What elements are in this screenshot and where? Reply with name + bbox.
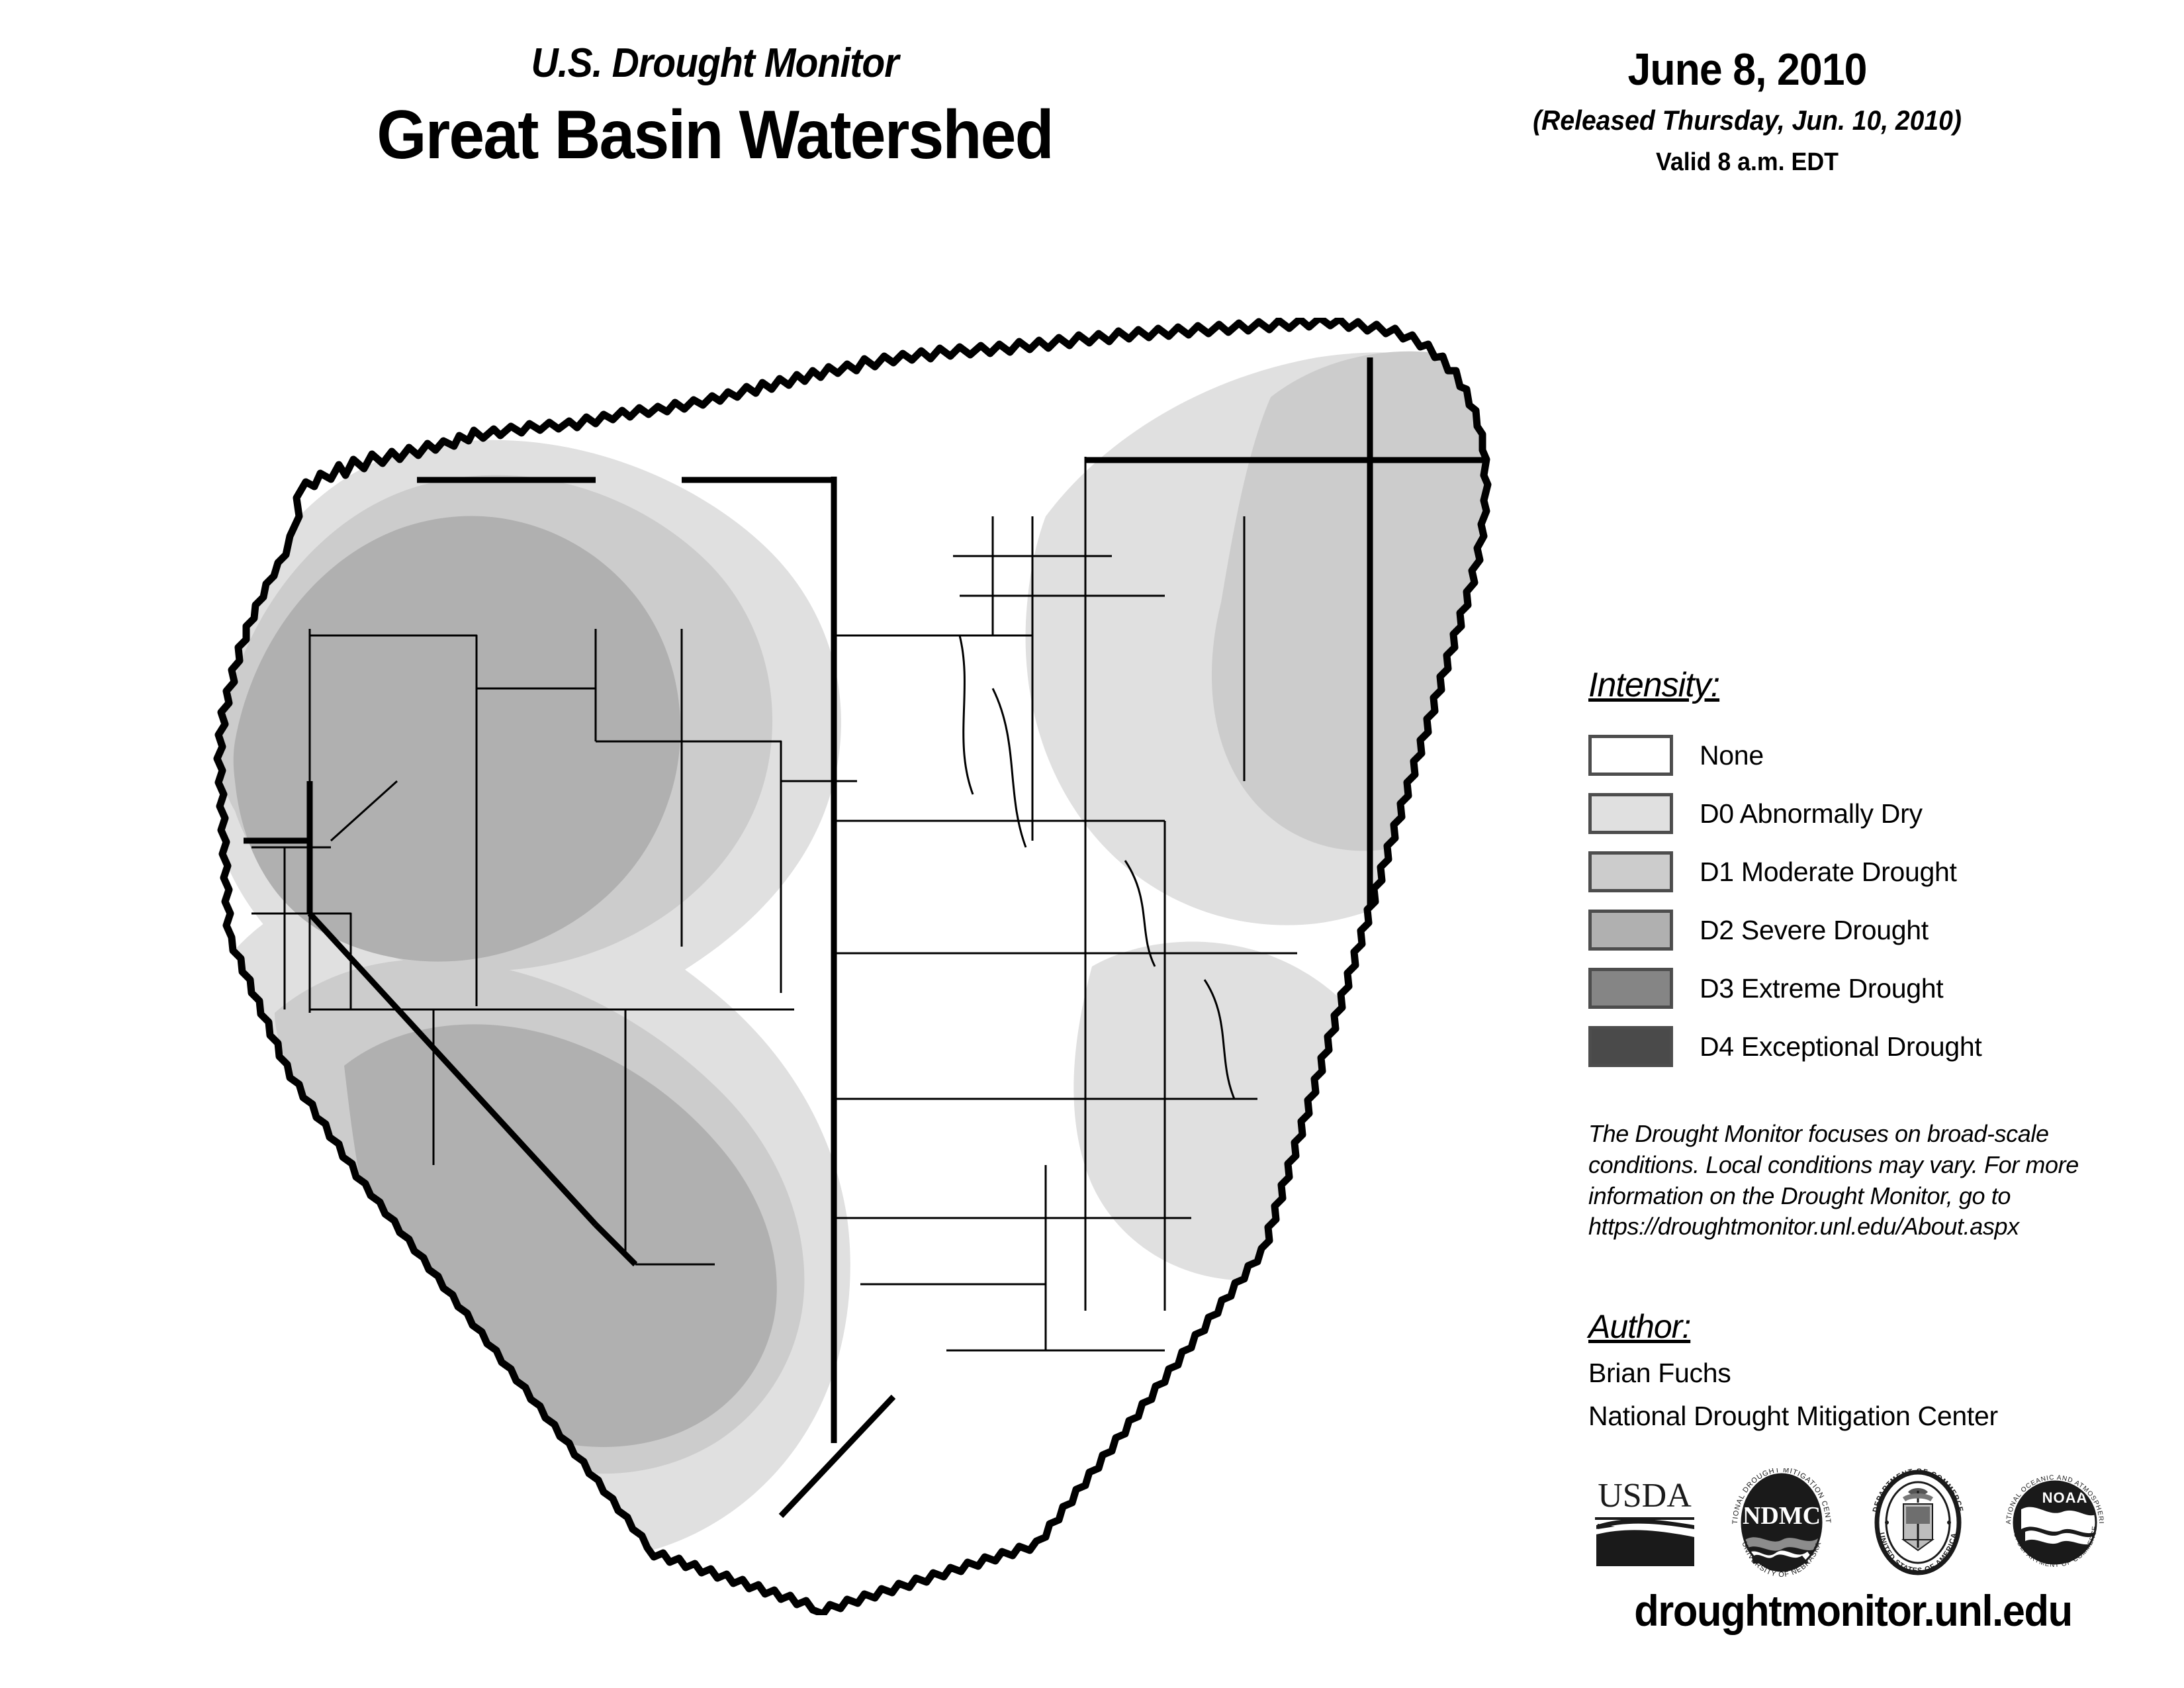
legend-label-d1: D1 Moderate Drought bbox=[1700, 857, 1957, 888]
legend-label-d4: D4 Exceptional Drought bbox=[1700, 1031, 1981, 1062]
author-block: Author: Brian Fuchs National Drought Mit… bbox=[1588, 1307, 2118, 1432]
legend-swatch-d2 bbox=[1588, 910, 1673, 951]
noaa-logo[interactable]: NOAA NATIONAL OCEANIC AND ATMOSPHERIC U.… bbox=[1999, 1468, 2111, 1577]
release-date: (Released Thursday, Jun. 10, 2010) bbox=[1433, 105, 2062, 136]
valid-time: Valid 8 a.m. EDT bbox=[1430, 148, 2065, 177]
legend-swatch-d4 bbox=[1588, 1026, 1673, 1067]
legend-swatch-d1 bbox=[1588, 851, 1673, 892]
legend-label-d2: D2 Severe Drought bbox=[1700, 915, 1929, 946]
legend-items: None D0 Abnormally Dry D1 Moderate Droug… bbox=[1588, 726, 2091, 1076]
usda-wordmark: USDA bbox=[1598, 1477, 1692, 1515]
legend-item-d0[interactable]: D0 Abnormally Dry bbox=[1588, 784, 2091, 843]
legend-title: Intensity: bbox=[1588, 665, 1719, 705]
disclaimer-text: The Drought Monitor focuses on broad-sca… bbox=[1588, 1119, 2118, 1243]
page-title: Great Basin Watershed bbox=[235, 96, 1195, 175]
footer-url[interactable]: droughtmonitor.unl.edu bbox=[1564, 1585, 2142, 1636]
author-name: Brian Fuchs bbox=[1588, 1358, 2118, 1389]
partner-logos: USDA NDMC NATIONAL DROUGHT MITIGATION CE… bbox=[1588, 1466, 2111, 1579]
author-heading: Author: bbox=[1588, 1307, 1690, 1346]
legend-item-d4[interactable]: D4 Exceptional Drought bbox=[1588, 1017, 2091, 1076]
legend-swatch-none bbox=[1588, 735, 1673, 776]
legend-item-d3[interactable]: D3 Extreme Drought bbox=[1588, 959, 2091, 1017]
map-svg bbox=[132, 318, 1496, 1615]
legend-label-d0: D0 Abnormally Dry bbox=[1700, 798, 1923, 829]
drought-map[interactable] bbox=[132, 318, 1496, 1615]
date-block: June 8, 2010 (Released Thursday, Jun. 10… bbox=[1410, 44, 2085, 177]
legend-item-d2[interactable]: D2 Severe Drought bbox=[1588, 901, 2091, 959]
ndmc-wordmark: NDMC bbox=[1743, 1502, 1821, 1530]
legend-swatch-d0 bbox=[1588, 793, 1673, 834]
legend-item-d1[interactable]: D1 Moderate Drought bbox=[1588, 843, 2091, 901]
issue-date: June 8, 2010 bbox=[1437, 44, 2058, 95]
author-affiliation: National Drought Mitigation Center bbox=[1588, 1401, 2118, 1432]
title-block: U.S. Drought Monitor Great Basin Watersh… bbox=[199, 40, 1231, 175]
ndmc-logo[interactable]: NDMC NATIONAL DROUGHT MITIGATION CENTER … bbox=[1725, 1468, 1838, 1577]
program-subtitle: U.S. Drought Monitor bbox=[240, 40, 1189, 87]
legend-label-none: None bbox=[1700, 740, 1764, 771]
legend-label-d3: D3 Extreme Drought bbox=[1700, 973, 1943, 1004]
legend-swatch-d3 bbox=[1588, 968, 1673, 1009]
usda-logo[interactable]: USDA bbox=[1588, 1468, 1701, 1577]
legend-item-none[interactable]: None bbox=[1588, 726, 2091, 784]
doc-logo[interactable]: DEPARTMENT OF COMMERCE UNITED STATES OF … bbox=[1862, 1468, 1974, 1577]
legend: Intensity: None D0 Abnormally Dry D1 Mod… bbox=[1588, 665, 2091, 1076]
